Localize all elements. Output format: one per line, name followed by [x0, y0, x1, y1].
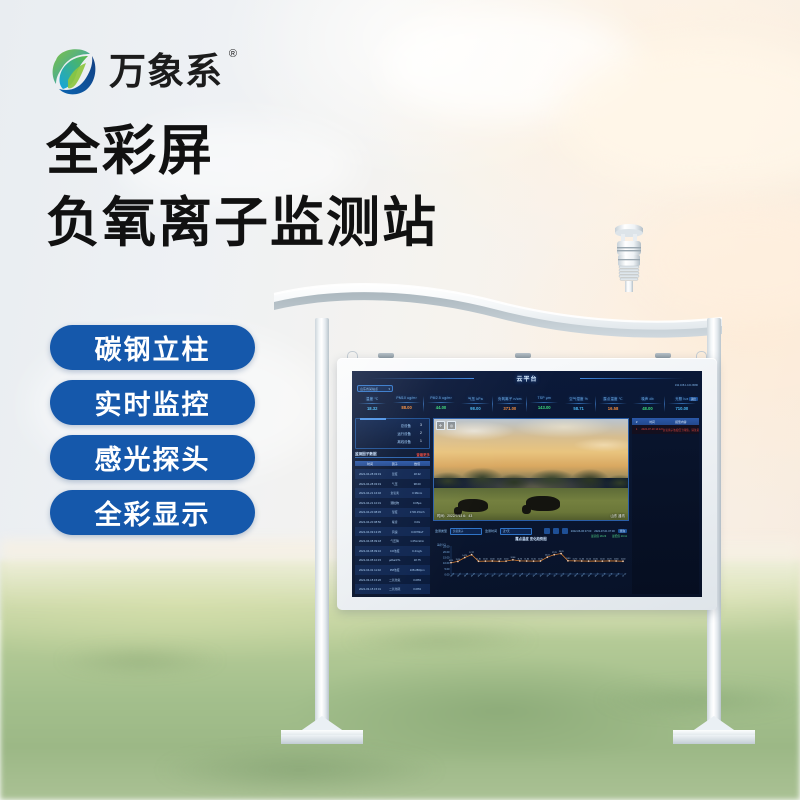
cell-content: 负氧离子浓度低于阈值，请注意查看: [663, 428, 699, 432]
cell-time: 2022-04-28 03:19: [355, 472, 385, 476]
cell-factor: 二氧化硫: [385, 587, 404, 591]
cow-head: [522, 505, 531, 514]
metric-temperature: 温度 ℃ 18.32: [355, 394, 389, 416]
svg-text:11.70: 11.70: [517, 558, 522, 560]
svg-text:06-29: 06-29: [608, 573, 613, 578]
svg-text:11.70: 11.70: [572, 558, 577, 560]
svg-text:11.50: 11.50: [600, 559, 605, 561]
stat-value: 3: [418, 423, 424, 428]
svg-text:15.00: 15.00: [443, 556, 450, 560]
metric-label: 气压 kPa: [458, 396, 492, 401]
svg-text:11.50: 11.50: [586, 559, 591, 561]
type-select-value: 负氧离子: [453, 529, 463, 533]
alarm-row[interactable]: 1 2022-07-10 14:12:05 负氧离子浓度低于阈值，请注意查看: [632, 425, 699, 434]
svg-text:06-25: 06-25: [581, 573, 586, 578]
chart-legend: 最高值 18.23 最低值 10.11: [591, 534, 627, 538]
cell-time: 2022-04-05 10:15: [355, 558, 385, 562]
cell-time: 2022-04-20 08:45: [355, 510, 385, 514]
alarm-empty-area: [632, 434, 699, 594]
column-header-value: 数值: [404, 462, 429, 466]
legend-item-max: 最高值 18.23: [591, 534, 606, 538]
metric-value: 58.71: [561, 406, 595, 411]
left-steel-post: [315, 318, 329, 732]
table-row[interactable]: 2022-04-09 13:35 风速 0.0076lx/f: [355, 527, 430, 537]
cell-factor: 颗粒物: [385, 501, 404, 505]
cell-time: 2022-07-10 14:12:05: [641, 428, 662, 431]
table-row[interactable]: 2022-03-15 15:26 二氧化氮 0.08%: [355, 575, 430, 585]
metric-strip: 温度 ℃ 18.32 PM10 ug/m³ 88.00 PM2.5 ug/m³ …: [355, 394, 699, 416]
stat-row: 运行设备 2: [361, 431, 424, 436]
monitoring-station-product: 云平台 山东省某站点 ▾ 192.168.1.101:8080 退出 温度 ℃ …: [0, 0, 800, 800]
metric-tsp: TSP μm 143.00: [527, 394, 561, 416]
table-row[interactable]: 2022-04-01 11:02 PM浓度 108.286/pm: [355, 565, 430, 575]
svg-text:11.40: 11.40: [621, 559, 626, 561]
metric-value: 371.00: [493, 406, 527, 411]
svg-text:06-21: 06-21: [553, 573, 558, 578]
metric-noise: 噪声 db 48.00: [630, 394, 664, 416]
stat-label: 离线设备: [397, 439, 411, 444]
cell-time: 2022-04-01 11:02: [355, 568, 385, 572]
dashboard-title: 云平台: [516, 374, 537, 383]
device-stats-box: 总设备 3 运行设备 2 离线设备 1: [355, 418, 430, 449]
svg-text:06-27: 06-27: [595, 573, 600, 578]
table-row[interactable]: 2022-04-28 03:19 温度 18.32: [355, 469, 430, 479]
svg-text:11.60: 11.60: [614, 558, 619, 560]
list-view-icon[interactable]: [553, 528, 559, 534]
metric-label: 光照 lux: [665, 396, 699, 401]
cell-factor: 二氧化氮: [385, 578, 404, 582]
metric-illuminance: 光照 lux 710.00: [665, 394, 699, 416]
table-row[interactable]: 2022-04-20 08:50 噪音 0.0lx: [355, 517, 430, 527]
ultrasonic-weather-sensor: [607, 222, 651, 292]
svg-text:5.00: 5.00: [444, 567, 450, 571]
svg-text:11.60: 11.60: [524, 558, 529, 560]
svg-text:11.40: 11.40: [476, 559, 481, 561]
view-more-link[interactable]: 查看更多: [416, 452, 430, 457]
svg-text:17.27: 17.27: [469, 552, 474, 554]
table-row[interactable]: 2022-04-08 09:10 CO浓度 0.4mg/L: [355, 546, 430, 556]
svg-text:07-01: 07-01: [622, 573, 627, 578]
metric-value: 44.00: [424, 405, 458, 410]
cell-value: 0.08%: [404, 587, 429, 591]
date-from[interactable]: 2022-06-06 07:00: [571, 530, 591, 533]
cell-time: 2022-04-28 03:19: [355, 482, 385, 486]
chevron-down-icon: ▾: [388, 387, 390, 391]
metric-label: TSP μm: [527, 396, 561, 400]
metric-value: 18.32: [355, 406, 389, 411]
svg-text:11.50: 11.50: [483, 559, 488, 561]
cell-value: 18.75: [404, 558, 429, 562]
metric-pm10: PM10 ug/m³ 88.00: [389, 394, 423, 416]
control-label-type: 监测类型: [435, 529, 447, 533]
cell-time: 2022-04-21 16:46: [355, 491, 385, 495]
live-video-feed[interactable]: ✛ ◎ 时间：2022/7/13 6：43 山东 潍坊: [433, 418, 629, 521]
column-header-factor: 因子: [385, 462, 404, 466]
svg-text:17.23: 17.23: [552, 552, 557, 554]
cell-value: 18.32: [404, 472, 429, 476]
svg-text:06-19: 06-19: [540, 573, 545, 578]
camera-capture-icon[interactable]: ✛: [436, 421, 445, 430]
center-panel: ✛ ◎ 时间：2022/7/13 6：43 山东 潍坊 监测类型 负氧离子 监: [433, 418, 629, 594]
svg-text:15.01: 15.01: [545, 555, 550, 557]
metric-label: 空气湿度 %: [561, 396, 595, 401]
dashboard-body: 总设备 3 运行设备 2 离线设备 1 监测因子数据: [355, 418, 699, 594]
column-header-time: 时间: [641, 420, 662, 424]
cell-time: 2022-04-20 08:50: [355, 520, 385, 524]
svg-text:06-23: 06-23: [567, 573, 572, 578]
svg-text:06-20: 06-20: [547, 573, 552, 578]
cell-value: 1730.15m/h: [404, 510, 429, 514]
svg-text:11.80: 11.80: [566, 558, 571, 560]
svg-text:0.00: 0.00: [444, 572, 450, 576]
cell-value: 98.00: [404, 482, 429, 486]
stat-label: 总设备: [401, 423, 411, 428]
svg-text:20.00: 20.00: [443, 550, 450, 554]
calendar-icon[interactable]: [562, 528, 568, 534]
cell-time: 2022-04-08 09:10: [355, 549, 385, 553]
metric-value: 16.58: [596, 406, 630, 411]
svg-text:06-22: 06-22: [560, 573, 565, 578]
stat-label: 运行设备: [397, 431, 411, 436]
metric-label: 温度 ℃: [355, 396, 389, 401]
svg-text:06-15: 06-15: [512, 573, 517, 578]
svg-text:06-10: 06-10: [478, 573, 483, 578]
table-row[interactable]: 2022-04-21 10:31 颗粒物 0.05μs: [355, 498, 430, 508]
cell-value: 0.05μs: [404, 501, 429, 505]
snapshot-icon[interactable]: ◎: [447, 421, 456, 430]
cow-silhouette: [458, 499, 488, 512]
svg-text:06-28: 06-28: [602, 573, 607, 578]
metric-label: 负氧离子 n/cm: [493, 396, 527, 401]
svg-text:06-13: 06-13: [498, 573, 503, 578]
video-location: 山东 潍坊: [610, 513, 625, 518]
table-row[interactable]: 2022-04-08 09:18 气压降 1.05m/2cm: [355, 536, 430, 546]
dashboard-header: 云平台: [352, 373, 702, 384]
svg-text:06-08: 06-08: [464, 573, 469, 578]
grid-view-icon[interactable]: [544, 528, 550, 534]
svg-text:06-16: 06-16: [519, 573, 524, 578]
cell-factor: 温度: [385, 472, 404, 476]
stat-value: 1: [418, 439, 424, 444]
metric-label: PM2.5 ug/m³: [424, 396, 458, 400]
svg-text:温度(℃): 温度(℃): [437, 543, 446, 547]
control-label-period: 监测时间: [485, 529, 497, 533]
cell-factor: PM浓度: [385, 568, 404, 572]
table-row[interactable]: 2022-04-20 08:45 湿度 1730.15m/h: [355, 508, 430, 518]
metric-label: 露点温度 ℃: [596, 396, 630, 401]
metric-dew-point: 露点温度 ℃ 16.58: [596, 394, 630, 416]
column-header-index: #: [632, 420, 641, 424]
product-marketing-banner: 万象系 ® 全彩屏 负氧离子监测站 碳钢立柱 实时监控 感光探头 全彩显示: [0, 0, 800, 800]
metric-value: 710.00: [665, 406, 699, 411]
cell-value: 1.05m/2cm: [404, 539, 429, 543]
cell-factor: 气压降: [385, 539, 404, 543]
svg-text:11.60: 11.60: [593, 558, 598, 560]
svg-text:11.60: 11.60: [538, 558, 543, 560]
svg-text:06-18: 06-18: [533, 573, 538, 578]
svg-text:12.66: 12.66: [511, 557, 516, 559]
svg-text:06-17: 06-17: [526, 573, 531, 578]
svg-text:06-11: 06-11: [485, 573, 490, 578]
trend-chart-panel: 监测类型 负氧离子 监测时间 近7天 2: [433, 524, 629, 594]
cell-time: 2022-03-15 15:26: [355, 578, 385, 582]
svg-text:11.60: 11.60: [490, 558, 495, 560]
table-row[interactable]: 2022-03-15 15:01 二氧化硫 0.08%: [355, 584, 430, 594]
cell-factor: 风速: [385, 530, 404, 534]
table-row[interactable]: 2022-04-05 10:15 μdba/37L 18.75: [355, 556, 430, 566]
data-table-body: 2022-04-28 03:19 温度 18.32 2022-04-28 03:…: [355, 469, 430, 594]
cell-index: 1: [632, 428, 641, 431]
cow-silhouette: [526, 496, 560, 511]
cell-value: 0.08%: [404, 578, 429, 582]
cell-value: 0.38mm: [404, 491, 429, 495]
cell-factor: 湿度: [385, 510, 404, 514]
svg-text:06-07: 06-07: [457, 573, 462, 578]
cell-value: 108.286/pm: [404, 568, 429, 572]
cell-factor: 气压: [385, 482, 404, 486]
svg-text:06-24: 06-24: [574, 573, 579, 578]
table-row[interactable]: 2022-04-21 16:46 负氧离 0.38mm: [355, 488, 430, 498]
metric-value: 98.00: [458, 406, 492, 411]
anchor-base-plate: [281, 730, 363, 744]
column-header-content: 报警内容: [663, 420, 699, 424]
video-controls: ✛ ◎: [436, 421, 456, 430]
svg-text:10.11: 10.11: [449, 560, 454, 562]
period-select-value: 近7天: [503, 529, 510, 533]
legend-item-min: 最低值 10.11: [612, 534, 627, 538]
svg-text:06-30: 06-30: [615, 573, 620, 578]
alarm-panel: # 时间 报警内容 1 2022-07-10 14:12:05 负氧离子浓度低于…: [632, 418, 699, 594]
stat-row: 离线设备 1: [361, 439, 424, 444]
svg-text:11.60: 11.60: [579, 558, 584, 560]
cell-factor: 噪音: [385, 520, 404, 524]
cell-factor: 负氧离: [385, 491, 404, 495]
metric-negative-ion: 负氧离子 n/cm 371.00: [493, 394, 527, 416]
metric-value: 143.00: [527, 405, 561, 410]
svg-text:06-26: 06-26: [588, 573, 593, 578]
cell-time: 2022-04-21 10:31: [355, 501, 385, 505]
metric-label: PM10 ug/m³: [389, 396, 423, 400]
left-panel: 总设备 3 运行设备 2 离线设备 1 监测因子数据: [355, 418, 430, 594]
svg-text:11.20: 11.20: [456, 559, 461, 561]
svg-text:14.70: 14.70: [462, 555, 467, 557]
station-select-value: 山东省某站点: [360, 387, 388, 391]
metric-pressure: 气压 kPa 98.00: [458, 394, 492, 416]
metric-pm25: PM2.5 ug/m³ 44.00: [424, 394, 458, 416]
svg-text:11.40: 11.40: [497, 559, 502, 561]
data-table-title: 监测因子数据: [355, 452, 377, 457]
cell-value: 0.0076lx/f: [404, 530, 429, 534]
metric-label: 噪声 db: [630, 396, 664, 401]
date-to[interactable]: 2022-07-01 07:00: [594, 530, 614, 533]
svg-text:06-09: 06-09: [471, 573, 476, 578]
cell-value: 0.4mg/L: [404, 549, 429, 553]
cell-time: 2022-04-09 13:35: [355, 530, 385, 534]
metric-value: 88.00: [389, 405, 423, 410]
svg-text:11.70: 11.70: [607, 558, 612, 560]
svg-text:06-12: 06-12: [492, 573, 497, 578]
svg-text:11.50: 11.50: [531, 559, 536, 561]
cell-factor: μdba/37L: [385, 558, 404, 562]
svg-text:06-14: 06-14: [505, 573, 510, 578]
dashboard-screen: 云平台 山东省某站点 ▾ 192.168.1.101:8080 退出 温度 ℃ …: [352, 371, 702, 597]
ip-address-label: 192.168.1.101:8080: [675, 384, 698, 387]
stat-row: 总设备 3: [361, 423, 424, 428]
metric-value: 48.00: [630, 406, 664, 411]
svg-text:18.23: 18.23: [559, 551, 564, 553]
query-button[interactable]: 查询: [618, 529, 627, 533]
cell-value: 0.0lx: [404, 520, 429, 524]
cell-factor: CO浓度: [385, 549, 404, 553]
anchor-base-plate: [673, 730, 755, 744]
line-chart: 25.0020.0015.0010.005.000.00温度(℃)10.1106…: [435, 542, 627, 586]
column-header-time: 时间: [355, 462, 385, 466]
type-select[interactable]: 负氧离子: [450, 528, 482, 535]
period-select[interactable]: 近7天: [500, 528, 532, 535]
svg-text:11.50: 11.50: [504, 559, 509, 561]
station-select[interactable]: 山东省某站点 ▾: [357, 385, 393, 392]
alarm-table-columns: # 时间 报警内容: [632, 418, 699, 425]
video-timestamp: 时间：2022/7/13 6：43: [437, 513, 472, 518]
table-row[interactable]: 2022-04-28 03:19 气压 98.00: [355, 479, 430, 489]
cell-time: 2022-04-08 09:18: [355, 539, 385, 543]
stat-value: 2: [418, 431, 424, 436]
curved-canopy-roof: [272, 282, 724, 344]
metric-humidity: 空气湿度 % 58.71: [561, 394, 595, 416]
data-table-header: 监测因子数据 查看更多: [355, 452, 430, 459]
data-table-columns: 时间 因子 数值: [355, 461, 430, 466]
cell-time: 2022-03-15 15:01: [355, 587, 385, 591]
